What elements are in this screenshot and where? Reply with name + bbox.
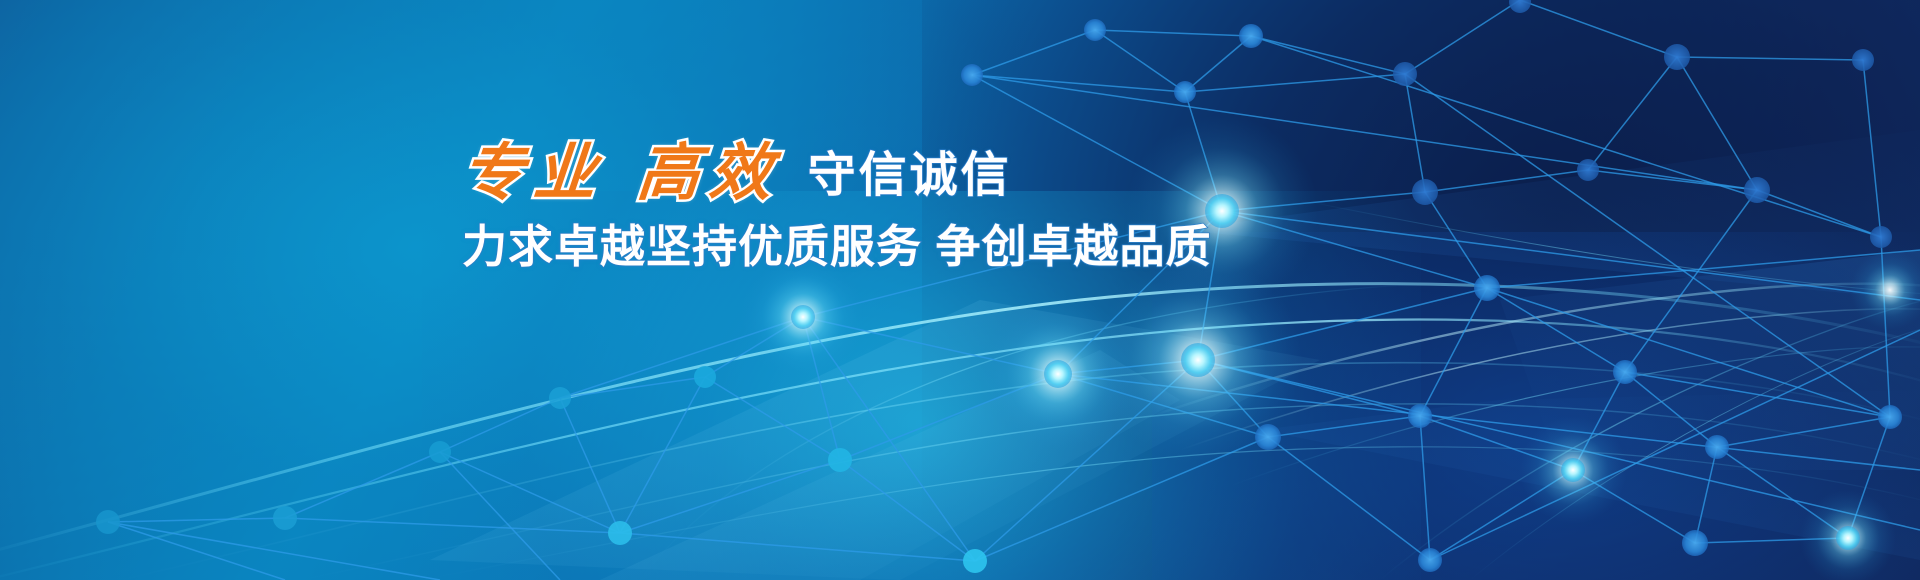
- network-nodes: [96, 0, 1902, 573]
- network-constellation-graphic: [0, 0, 1920, 580]
- hero-banner: 专业 高效 守信诚信 力求卓越坚持优质服务 争创卓越品质: [0, 0, 1920, 580]
